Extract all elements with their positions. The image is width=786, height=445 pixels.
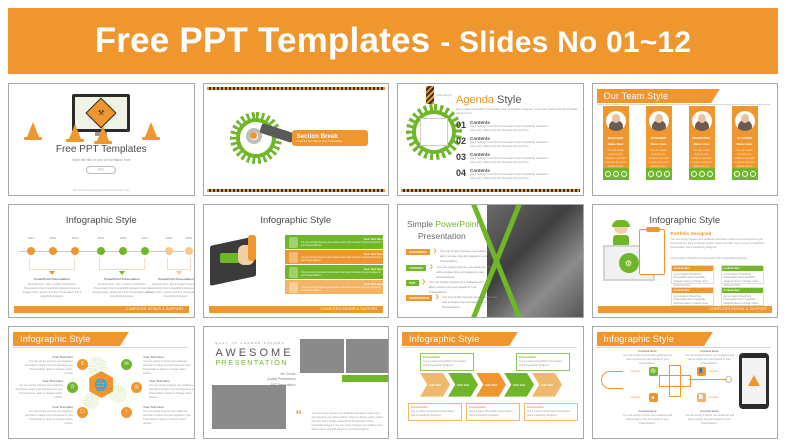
social-icons[interactable] <box>646 168 672 180</box>
agenda-item-number: 03 <box>456 152 466 162</box>
photo-collage <box>487 205 583 316</box>
timeline-year: 2017 <box>142 236 149 240</box>
info-bar-desc: You can simply impress your audience and… <box>301 286 383 293</box>
team-member-card[interactable]: PLANNER Name Here You can simply impress… <box>732 106 758 180</box>
connector-line <box>689 379 727 380</box>
callout-title: Presentation <box>519 355 569 359</box>
feature-row[interactable]: CONTENTS ❯ You can simply impress your a… <box>406 265 494 279</box>
timeline-year: 2019 <box>186 236 193 240</box>
process-chevron[interactable]: Add Text <box>532 373 562 397</box>
slide-footer-bar: COMPUTER REPAIR & SUPPORT <box>14 306 189 313</box>
agenda-item-desc: Get a modern PowerPoint Presentation tha… <box>470 157 552 165</box>
slide-9-title-ribbon: Infographic Style <box>13 332 120 346</box>
node-label: Content <box>631 369 641 373</box>
banner-title-sub: - Slides No 01~12 <box>440 26 691 59</box>
callout-desc: Get a modern PowerPoint Presentation tha… <box>517 360 569 370</box>
agenda-item-desc: Get a modern PowerPoint Presentation tha… <box>470 125 552 133</box>
slide-2-content: Section Break Insert the Sub Title of Yo… <box>204 84 389 195</box>
slide-1-heading: Free PPT Templates <box>9 144 194 155</box>
chevron-right-icon: ❯ <box>429 265 433 270</box>
twitter-icon <box>613 171 619 177</box>
content-box[interactable]: Content Here Get a modern PowerPoint Pre… <box>671 287 714 306</box>
feature-row[interactable]: POWERPOINT ❯ You can simply impress your… <box>406 249 498 263</box>
slide-10-title-1: AWESOME <box>216 347 294 359</box>
feature-row[interactable]: TEXT ❯ You can simply impress your audie… <box>406 280 487 294</box>
team-member-role: MANAGER <box>603 136 629 140</box>
slide-3-title: Agenda Style <box>456 94 521 106</box>
info-bar[interactable]: Your Text Here You can simply impress yo… <box>285 265 383 279</box>
node-label: Content <box>709 369 719 373</box>
twitter-icon <box>742 171 748 177</box>
node-text: Content Here You can simply impress your… <box>623 349 673 366</box>
feature-desc: You can simply impress your audience and… <box>440 249 498 263</box>
social-icons[interactable] <box>732 168 758 180</box>
team-member-role: PLANNER <box>732 136 758 140</box>
slide-footer-bar: COMPUTER REPAIR & SUPPORT <box>209 306 384 313</box>
section-break-title: Section Break <box>297 133 368 140</box>
agenda-item-number: 01 <box>456 120 466 130</box>
node-title: Content Here <box>685 349 735 353</box>
section-break-subtitle: Insert the Sub Title of Your Presentatio… <box>297 140 368 143</box>
info-bar[interactable]: Your Text Here You can simply impress yo… <box>285 280 383 294</box>
node-desc: You can simply impress your audience and… <box>623 354 673 366</box>
timeline-bracket <box>99 258 145 270</box>
agenda-item[interactable]: 02 Contents Get a modern PowerPoint Pres… <box>456 136 552 149</box>
photo-thumbnail <box>212 385 286 429</box>
slide-5-title: Infographic Style <box>9 215 194 226</box>
timeline-year: 2012 <box>28 236 35 240</box>
timeline-dot[interactable] <box>27 247 35 255</box>
crane-hook-icon <box>426 86 434 104</box>
slide-thumbnail-8[interactable]: Infographic Style ⚙ Portfolio Designed Y… <box>592 204 779 317</box>
slide-thumbnail-1[interactable]: ⚒ Free PPT Templates Insert the title of… <box>8 83 195 196</box>
title-underline <box>597 347 772 348</box>
feature-label: Your Text Here <box>25 355 73 359</box>
callout-title: Presentation <box>411 405 461 409</box>
agenda-item[interactable]: 01 Contents Get a modern PowerPoint Pres… <box>456 120 552 133</box>
chevron-label: Add Text <box>513 383 526 387</box>
team-member-name: Name Here <box>646 142 672 146</box>
slide-10-content: EASY TO CHANGE COLORS AWESOME PRESENTATI… <box>204 327 389 438</box>
avatar <box>606 111 626 131</box>
node-label: Content <box>709 395 719 399</box>
content-box-title: Content Here <box>724 267 740 270</box>
slide-12-title: Infographic Style <box>597 334 674 344</box>
slide-footer-bar: COMPUTER REPAIR & SUPPORT <box>598 306 773 313</box>
phone-screen <box>742 358 766 404</box>
team-member-card[interactable]: MANAGER Name Here You can simply impress… <box>603 106 629 180</box>
slide-11-content: Infographic Style Add Text Add Text Add … <box>398 327 583 438</box>
info-bar-desc: You can simply impress your audience and… <box>301 256 383 263</box>
clipboard-icon <box>639 229 665 275</box>
timeline-dot[interactable] <box>49 247 57 255</box>
page-banner: Free PPT Templates - Slides No 01~12 <box>8 8 778 74</box>
feature-desc: You can simply impress your audience and… <box>143 360 191 376</box>
content-box-desc: Get a modern PowerPoint Presentation tha… <box>722 271 763 288</box>
dotted-border-bottom <box>401 189 580 192</box>
feature-desc: You can simply impress your audience and… <box>436 265 494 279</box>
slide-11-title: Infographic Style <box>402 334 479 344</box>
dotted-border-bottom <box>207 189 386 192</box>
chevron-label: Add Text <box>429 383 442 387</box>
print-icon[interactable]: 🖨 <box>649 367 658 376</box>
twitter-icon <box>656 171 662 177</box>
callout-desc: Get a modern PowerPoint Presentation tha… <box>525 410 577 420</box>
process-chevron[interactable]: Add Text <box>504 373 534 397</box>
callout-box[interactable]: Presentation Get a modern PowerPoint Pre… <box>466 403 520 421</box>
info-bar-desc: You can simply impress your audience and… <box>301 271 383 278</box>
feature-label: Your Text Here <box>15 379 63 383</box>
team-member-card[interactable]: DESIGNER Name Here You can simply impres… <box>646 106 672 180</box>
node-text: Content Here You can simply impress your… <box>685 349 735 366</box>
info-bar[interactable]: Your Text Here You can simply impress yo… <box>285 235 383 249</box>
timeline-marker <box>176 271 182 275</box>
twitter-icon <box>699 171 705 177</box>
battery-icon[interactable]: ■ <box>649 393 658 402</box>
content-box-desc: Get a modern PowerPoint Presentation tha… <box>672 271 713 288</box>
slide-4-title: Our Team Style <box>597 91 669 101</box>
grid-icon <box>289 282 298 293</box>
slide-12-content: Infographic Style 🖨 👤 ■ 📄 Content Conten… <box>593 327 778 438</box>
location-icon <box>289 252 298 263</box>
traffic-cone-icon <box>27 122 39 137</box>
node-title: Content Here <box>623 349 673 353</box>
agenda-item-desc: Get a modern PowerPoint Presentation tha… <box>470 173 552 181</box>
power-icon[interactable]: ⏻ <box>67 382 78 393</box>
instagram-icon <box>664 171 670 177</box>
timeline-year: 2015 <box>98 236 105 240</box>
slide-thumbnail-3[interactable]: Tech support Agenda Style Get a modern P… <box>397 83 584 196</box>
portfolio-heading: Portfolio Designed <box>671 231 712 236</box>
chevron-label: Add Text <box>485 383 498 387</box>
slide-thumbnail-6[interactable]: Infographic Style Your Text Here You can… <box>203 204 390 317</box>
link-icon <box>289 237 298 248</box>
feature-label: Your Text Here <box>149 379 195 383</box>
mail-icon[interactable]: ✉ <box>121 359 132 370</box>
callout-box[interactable]: Presentation Get a modern PowerPoint Pre… <box>524 403 578 421</box>
callout-box[interactable]: Presentation Get a modern PowerPoint Pre… <box>408 403 462 421</box>
quote-text: You can simply impress your audience and… <box>312 412 384 432</box>
avatar <box>649 111 669 131</box>
process-chevron[interactable]: Add Text <box>448 373 478 397</box>
feature-desc: You can simply impress your audience and… <box>143 410 191 426</box>
slide-6-title: Infographic Style <box>204 215 389 226</box>
slide-1-url: http://www.free-powerpoint-templates-des… <box>9 189 194 192</box>
content-box-title: Content Here <box>724 289 740 292</box>
timeline-dot[interactable] <box>185 247 193 255</box>
feature-text: Your Text Here You can simply impress yo… <box>25 405 73 426</box>
slide-10-title-2: PRESENTATION <box>216 360 289 367</box>
facebook-icon <box>605 171 611 177</box>
feature-label: Your Text Here <box>143 355 191 359</box>
title-word-presentation: Presentation <box>418 231 466 241</box>
slide-thumbnail-9[interactable]: Infographic Style 🌐 € ✉ ⏻ ◎ ☐ ! Your Tex… <box>8 326 195 439</box>
team-member-name: Name Here <box>603 142 629 146</box>
slide-8-content: Infographic Style ⚙ Portfolio Designed Y… <box>593 205 778 316</box>
chevron-label: Add Text <box>541 383 554 387</box>
title-underline <box>13 347 188 348</box>
slide-thumbnail-4[interactable]: Our Team Style MANAGER Name Here You can… <box>592 83 779 196</box>
slide-thumbnail-11[interactable]: Infographic Style Add Text Add Text Add … <box>397 326 584 439</box>
instagram-icon <box>750 171 756 177</box>
node-text: Content Here You can simply impress your… <box>685 409 735 426</box>
dotted-border-top <box>207 87 386 90</box>
slide-9-content: Infographic Style 🌐 € ✉ ⏻ ◎ ☐ ! Your Tex… <box>9 327 194 438</box>
agenda-item[interactable]: 03 Contents Get a modern PowerPoint Pres… <box>456 152 552 165</box>
slide-11-title-ribbon: Infographic Style <box>402 332 509 346</box>
facebook-icon <box>648 171 654 177</box>
title-underline <box>402 347 577 348</box>
instagram-icon <box>621 171 627 177</box>
timeline-group-text: PowerPoint Presentation Example Text : G… <box>145 277 195 299</box>
social-icons[interactable] <box>689 168 715 180</box>
euro-icon[interactable]: € <box>77 359 88 370</box>
node-desc: You can simply impress your audience and… <box>685 414 735 426</box>
callout-desc: Get a modern PowerPoint Presentation tha… <box>409 410 461 420</box>
content-box-title: Content Here <box>674 267 690 270</box>
slide-6-content: Infographic Style Your Text Here You can… <box>204 205 389 316</box>
content-box[interactable]: Content Here Get a modern PowerPoint Pre… <box>721 265 764 284</box>
footer-label: COMPUTER REPAIR & SUPPORT <box>320 307 383 311</box>
slide-1-button[interactable]: PPT <box>86 166 116 174</box>
agenda-item-desc: Get a modern PowerPoint Presentation tha… <box>470 141 552 149</box>
node-label: Content <box>631 395 641 399</box>
feature-desc: You can simply impress your audience and… <box>442 295 500 309</box>
alert-icon[interactable]: ! <box>121 407 132 418</box>
feature-text: Your Text Here You can simply impress yo… <box>25 355 73 376</box>
team-member-name: Name Here <box>689 142 715 146</box>
gear-center-dot <box>250 132 257 139</box>
wrench-icon <box>248 235 256 261</box>
u-connector <box>601 371 623 389</box>
green-accent-bar <box>342 375 388 382</box>
social-icons[interactable] <box>603 168 629 180</box>
slide-thumbnail-10[interactable]: EASY TO CHANGE COLORS AWESOME PRESENTATI… <box>203 326 390 439</box>
feature-desc: You can simply impress your audience and… <box>25 410 73 426</box>
timeline-group-text: PowerPoint Presentation Example Text : G… <box>21 277 83 299</box>
agenda-item[interactable]: 04 Contents Get a modern PowerPoint Pres… <box>456 168 552 181</box>
callout-title: Presentation <box>423 355 473 359</box>
feature-text: Your Text Here You can simply impress yo… <box>143 405 191 426</box>
feature-desc: You can simply impress your audience and… <box>15 384 63 400</box>
monitor-screen: ⚒ <box>75 97 127 129</box>
quote-mark: “ <box>296 410 303 420</box>
timeline-group-desc: Example Text : Get a modern PowerPoint P… <box>21 283 83 299</box>
chevron-right-icon: ❯ <box>422 280 426 285</box>
portfolio-desc-2: Get a modern PowerPoint Presentation tha… <box>671 257 771 261</box>
timeline-dot[interactable] <box>141 247 149 255</box>
support-agent-icon <box>611 221 631 247</box>
banner-title: Free PPT Templates - Slides No 01~12 <box>95 21 692 61</box>
warning-icon <box>748 375 760 386</box>
user-icon[interactable]: 👤 <box>697 367 706 376</box>
slide-7-content: Simple PowerPoint Presentation POWERPOIN… <box>398 205 583 316</box>
facebook-icon <box>691 171 697 177</box>
callout-title: Presentation <box>527 405 577 409</box>
slide-thumbnail-7[interactable]: Simple PowerPoint Presentation POWERPOIN… <box>397 204 584 317</box>
info-bar-desc: You can simply impress your audience and… <box>301 241 383 248</box>
traffic-cone-icon <box>145 122 157 137</box>
agenda-item-number: 04 <box>456 168 466 178</box>
slide-4-content: Our Team Style MANAGER Name Here You can… <box>593 84 778 195</box>
portfolio-desc: You can simply impress your audience and… <box>671 238 771 250</box>
timeline-dot[interactable] <box>97 247 105 255</box>
templates-preview-page: Free PPT Templates - Slides No 01~12 ⚒ F… <box>0 0 786 445</box>
slide-9-title: Infographic Style <box>13 334 90 344</box>
feature-tag: POWERPOINT <box>406 249 430 255</box>
feature-tag: CONTENTS <box>406 265 426 271</box>
timeline-marker <box>119 271 125 275</box>
content-box[interactable]: Content Here Get a modern PowerPoint Pre… <box>721 287 764 306</box>
gear-tools-icon: ⚙ <box>619 253 639 273</box>
chevron-label: Add Text <box>457 383 470 387</box>
slide-grid: ⚒ Free PPT Templates Insert the title of… <box>8 83 778 439</box>
feature-row[interactable]: PRESENTATION ❯ You can simply impress yo… <box>406 295 500 309</box>
slide-12-title-ribbon: Infographic Style <box>597 332 704 346</box>
chevron-right-icon: ❯ <box>433 249 437 254</box>
agenda-item-number: 02 <box>456 136 466 146</box>
timeline-dot[interactable] <box>165 247 173 255</box>
timeline-year: 2013 <box>50 236 57 240</box>
timeline-bracket <box>167 258 191 270</box>
team-member-role: MARKETING <box>689 136 715 140</box>
timeline-group-heading: PowerPoint Presentation <box>91 277 153 281</box>
photo-thumbnail <box>300 339 344 373</box>
end-node <box>725 376 732 383</box>
team-member-card[interactable]: MARKETING Name Here You can simply impre… <box>689 106 715 180</box>
window-icon[interactable]: ☐ <box>77 407 88 418</box>
timeline-year: 2016 <box>120 236 127 240</box>
slide-1-subheading: Insert the title of your presentation he… <box>9 158 194 162</box>
document-icon[interactable]: 📄 <box>697 393 706 402</box>
timeline-group-heading: PowerPoint Presentation <box>145 277 195 281</box>
slide-thumbnail-5[interactable]: Infographic Style 2012 2013 2014 2015 20… <box>8 204 195 317</box>
slide-7-title: Simple PowerPoint <box>407 219 479 229</box>
node-desc: You can simply impress your audience and… <box>623 414 673 426</box>
feature-label: Your Text Here <box>143 405 191 409</box>
callout-box[interactable]: Presentation Get a modern PowerPoint Pre… <box>516 353 570 371</box>
sleeve-shape <box>220 253 240 263</box>
feature-tag: PRESENTATION <box>406 295 432 301</box>
slide-10-kicker: EASY TO CHANGE COLORS <box>216 341 285 345</box>
node-text: Content Here You can simply impress your… <box>623 409 673 426</box>
timeline-bracket <box>29 258 75 270</box>
slide-5-content: Infographic Style 2012 2013 2014 2015 20… <box>9 205 194 316</box>
target-icon[interactable]: ◎ <box>131 382 142 393</box>
content-box-title: Content Here <box>674 289 690 292</box>
traffic-cone-icon <box>69 124 81 139</box>
title-underline <box>597 104 772 105</box>
avatar <box>692 111 712 131</box>
feature-desc: You can simply impress your audience and… <box>25 360 73 376</box>
traffic-cone-icon <box>97 126 109 141</box>
timeline-year: 2018 <box>166 236 173 240</box>
timeline-dot[interactable] <box>71 247 79 255</box>
process-chevron[interactable]: Add Text <box>420 373 450 397</box>
callout-desc: Get a modern PowerPoint Presentation tha… <box>421 360 473 370</box>
callout-box[interactable]: Presentation Get a modern PowerPoint Pre… <box>420 353 474 371</box>
timeline-group-text: PowerPoint Presentation Example Text : G… <box>91 277 153 299</box>
gear-monitor-graphic <box>406 104 462 160</box>
callout-desc: Get a modern PowerPoint Presentation tha… <box>467 410 519 420</box>
monitor-icon <box>420 118 448 146</box>
title-word-powerpoint: PowerPoint <box>435 219 478 229</box>
callout-title: Presentation <box>469 405 519 409</box>
section-break-tag: Section Break Insert the Sub Title of Yo… <box>292 130 368 146</box>
timeline-year: 2014 <box>72 236 79 240</box>
process-chevron[interactable]: Add Text <box>476 373 506 397</box>
slide-3-description: Get a modern PowerPoint Presentation tha… <box>456 108 579 116</box>
title-word-simple: Simple <box>407 219 435 229</box>
timeline-group-desc: Example Text : Get a modern PowerPoint P… <box>91 283 153 299</box>
timeline-dot[interactable] <box>119 247 127 255</box>
photo-thumbnail <box>346 339 390 373</box>
feature-tag: TEXT <box>406 280 419 286</box>
feature-label: Your Text Here <box>25 405 73 409</box>
feature-text: Your Text Here You can simply impress yo… <box>143 355 191 376</box>
node-desc: You can simply impress your audience and… <box>685 354 735 366</box>
slide-thumbnail-12[interactable]: Infographic Style 🖨 👤 ■ 📄 Content Conten… <box>592 326 779 439</box>
timeline-group-heading: PowerPoint Presentation <box>21 277 83 281</box>
construction-sign-icon: ⚒ <box>86 97 117 128</box>
node-title: Content Here <box>685 409 735 413</box>
timeline-group-desc: Example Text : Get a modern PowerPoint P… <box>145 283 195 299</box>
slide-3-content: Tech support Agenda Style Get a modern P… <box>398 84 583 195</box>
feature-desc: You can simply impress your audience and… <box>149 384 195 400</box>
feature-text: Your Text Here You can simply impress yo… <box>149 379 195 400</box>
footer-label: COMPUTER REPAIR & SUPPORT <box>709 307 772 311</box>
timeline-marker <box>49 271 55 275</box>
node-title: Content Here <box>623 409 673 413</box>
bolt-icon <box>289 267 298 278</box>
chevron-right-icon: ❯ <box>435 295 439 300</box>
feature-text: Your Text Here You can simply impress yo… <box>15 379 63 400</box>
slide-4-title-ribbon: Our Team Style <box>597 89 711 103</box>
agenda-word: Agenda <box>456 94 494 106</box>
banner-title-main: Free PPT Templates <box>95 21 431 60</box>
feature-desc: You can simply impress your audience and… <box>429 280 487 294</box>
instagram-icon <box>707 171 713 177</box>
content-box[interactable]: Content Here Get a modern PowerPoint Pre… <box>671 265 714 284</box>
slide-1-content: ⚒ Free PPT Templates Insert the title of… <box>9 84 194 195</box>
cross-diagram <box>659 365 689 395</box>
avatar <box>735 111 755 131</box>
team-member-name: Name Here <box>732 142 758 146</box>
smartphone-icon <box>739 353 769 409</box>
style-word: Style <box>497 94 521 106</box>
info-bar[interactable]: Your Text Here You can simply impress yo… <box>285 250 383 264</box>
facebook-icon <box>734 171 740 177</box>
team-member-role: DESIGNER <box>646 136 672 140</box>
slide-3-kicker: Tech support <box>436 93 452 97</box>
slide-thumbnail-2[interactable]: Section Break Insert the Sub Title of Yo… <box>203 83 390 196</box>
footer-label: COMPUTER REPAIR & SUPPORT <box>126 307 189 311</box>
